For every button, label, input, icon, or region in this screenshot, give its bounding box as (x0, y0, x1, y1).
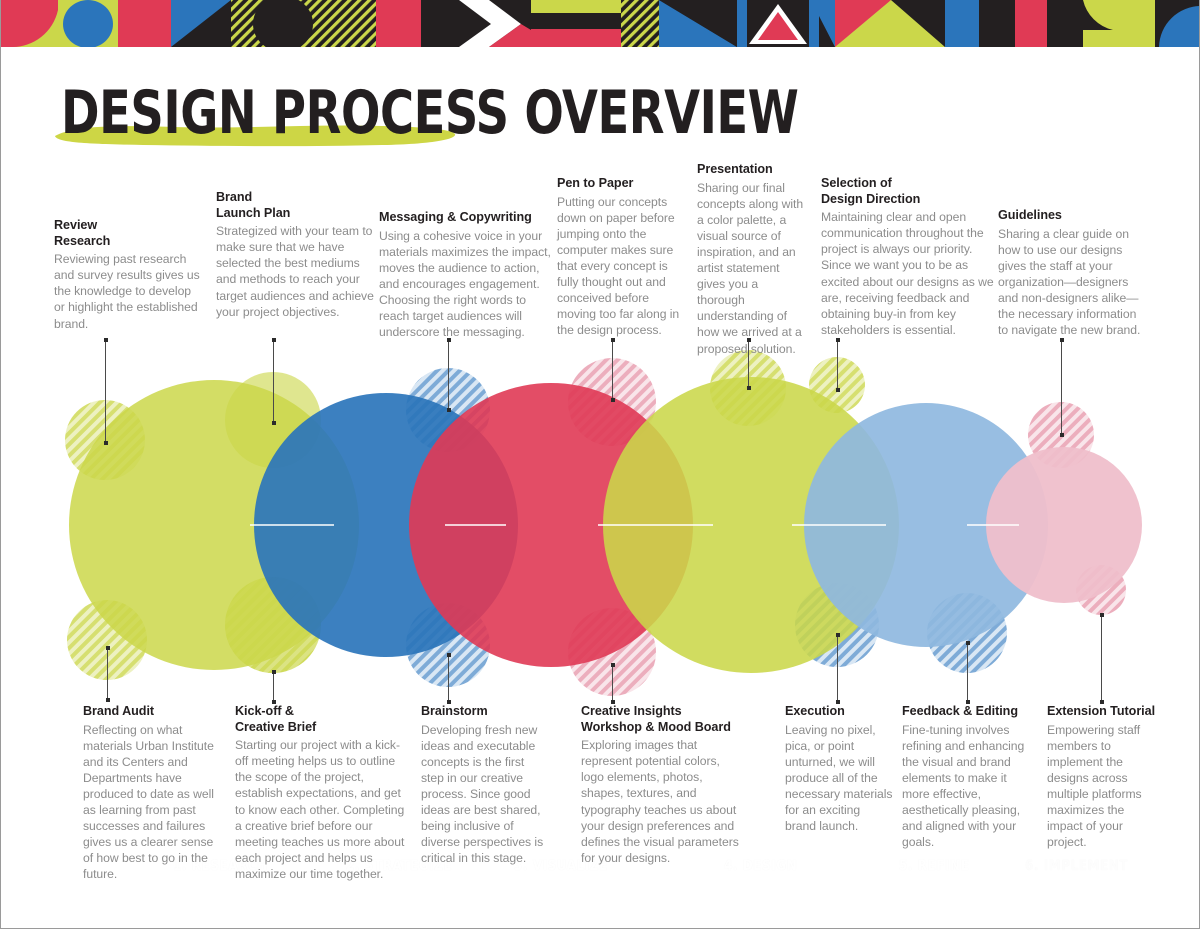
text-block-guidelines: Guidelines Sharing a clear guide on how … (998, 208, 1143, 338)
connector-dot (1100, 613, 1104, 617)
connector-creative-insights (612, 665, 613, 702)
text-block-execution: Execution Leaving no pixel, pica, or poi… (785, 704, 893, 834)
heading-messaging-copywriting: Messaging & Copywriting (379, 210, 557, 226)
body-messaging-copywriting: Using a cohesive voice in your materials… (379, 228, 557, 341)
heading-brand-launch-plan: Brand Launch Plan (216, 190, 376, 221)
body-execution: Leaving no pixel, pica, or point unturne… (785, 722, 893, 835)
connector-selection-of-design-direction (837, 340, 838, 390)
connector-dot (106, 698, 110, 702)
heading-feedback-editing: Feedback & Editing (902, 704, 1030, 720)
body-feedback-editing: Fine-tuning involves refining and enhanc… (902, 722, 1030, 851)
text-block-extension-tutorial: Extension Tutorial Empowering staff memb… (1047, 704, 1157, 850)
connector-dot (104, 338, 108, 342)
heading-pen-to-paper: Pen to Paper (557, 176, 685, 192)
connector-dot (272, 421, 276, 425)
heading-creative-insights-workshop-mood-board: Creative Insights Workshop & Mood Board (581, 704, 746, 735)
connector-dot (611, 398, 615, 402)
connector-brand-audit (107, 648, 108, 700)
header-divider (1, 47, 1200, 49)
body-kick-off-creative-brief: Starting our project with a kick-off mee… (235, 737, 407, 882)
connector-dot (611, 338, 615, 342)
connector-dot (836, 633, 840, 637)
connector-dot (104, 441, 108, 445)
heading-execution: Execution (785, 704, 893, 720)
connector-review-research (105, 340, 106, 443)
connector-dot (836, 388, 840, 392)
body-brainstorm: Developing fresh new ideas and executabl… (421, 722, 546, 867)
connector-dot (966, 641, 970, 645)
connector-execution (837, 635, 838, 702)
connector-extension-tutorial (1101, 615, 1102, 702)
body-presentation: Sharing our final concepts along with a … (697, 180, 807, 357)
connector-kick-off-creative-brief (273, 672, 274, 702)
body-creative-insights-workshop-mood-board: Exploring images that represent potentia… (581, 737, 746, 866)
body-guidelines: Sharing a clear guide on how to use our … (998, 226, 1143, 339)
header-pattern-svg (1, 0, 1200, 47)
page-title: DESIGN PROCESS OVERVIEW (61, 82, 663, 144)
connector-dot (747, 386, 751, 390)
connector-dot (106, 646, 110, 650)
heading-selection-of-design-direction: Selection of Design Direction (821, 176, 1001, 207)
connector-brainstorm (448, 655, 449, 702)
connector-dot (836, 338, 840, 342)
text-block-brand-launch-plan: Brand Launch Plan Strategized with your … (216, 190, 376, 320)
circle-group (65, 350, 1142, 696)
body-pen-to-paper: Putting our concepts down on paper befor… (557, 194, 685, 339)
text-block-presentation: Presentation Sharing our final concepts … (697, 162, 807, 357)
connector-feedback-editing (967, 643, 968, 702)
connector-dot (611, 663, 615, 667)
connector-dot (447, 408, 451, 412)
body-brand-launch-plan: Strategized with your team to make sure … (216, 223, 376, 320)
connector-messaging-copywriting (448, 340, 449, 410)
connector-pen-to-paper (612, 340, 613, 400)
connector-dot (272, 670, 276, 674)
page-title-wrap: DESIGN PROCESS OVERVIEW (61, 82, 761, 146)
body-extension-tutorial: Empowering staff members to implement th… (1047, 722, 1157, 851)
text-block-brand-audit: Brand Audit Reflecting on what materials… (83, 704, 218, 883)
text-block-feedback-editing: Feedback & Editing Fine-tuning involves … (902, 704, 1030, 850)
body-selection-of-design-direction: Maintaining clear and open communication… (821, 209, 1001, 338)
connector-dot (1060, 338, 1064, 342)
process-circles-diagram: 1. RESEARCH 2. STRATEGIZE 3. VISUALIZE 4… (1, 340, 1200, 710)
connector-dot (272, 338, 276, 342)
infographic-page: DESIGN PROCESS OVERVIEW (0, 0, 1200, 929)
stage-label-implement: 6. IMPLEMENT (1025, 858, 1128, 874)
heading-presentation: Presentation (697, 162, 807, 178)
text-block-kick-off-creative-brief: Kick-off & Creative Brief Starting our p… (235, 704, 407, 882)
heading-guidelines: Guidelines (998, 208, 1143, 224)
heading-kick-off-creative-brief: Kick-off & Creative Brief (235, 704, 407, 735)
connector-guidelines (1061, 340, 1062, 435)
heading-review-research: Review Research (54, 218, 204, 249)
connector-brand-launch-plan (273, 340, 274, 423)
text-block-review-research: Review Research Reviewing past research … (54, 218, 204, 332)
text-block-selection-of-design-direction: Selection of Design Direction Maintainin… (821, 176, 1001, 338)
connector-dot (1060, 433, 1064, 437)
header-pattern-band (1, 0, 1200, 47)
text-block-messaging-copywriting: Messaging & Copywriting Using a cohesive… (379, 210, 557, 340)
heading-brand-audit: Brand Audit (83, 704, 218, 720)
connector-dot (447, 653, 451, 657)
body-brand-audit: Reflecting on what materials Urban Insti… (83, 722, 218, 883)
stage-label-refine: 5. REFINE (899, 858, 969, 874)
text-block-brainstorm: Brainstorm Developing fresh new ideas an… (421, 704, 546, 866)
heading-extension-tutorial: Extension Tutorial (1047, 704, 1157, 720)
body-review-research: Reviewing past research and survey resul… (54, 251, 204, 331)
text-block-creative-insights-workshop-mood-board: Creative Insights Workshop & Mood Board … (581, 704, 746, 866)
heading-brainstorm: Brainstorm (421, 704, 546, 720)
text-block-pen-to-paper: Pen to Paper Putting our concepts down o… (557, 176, 685, 338)
